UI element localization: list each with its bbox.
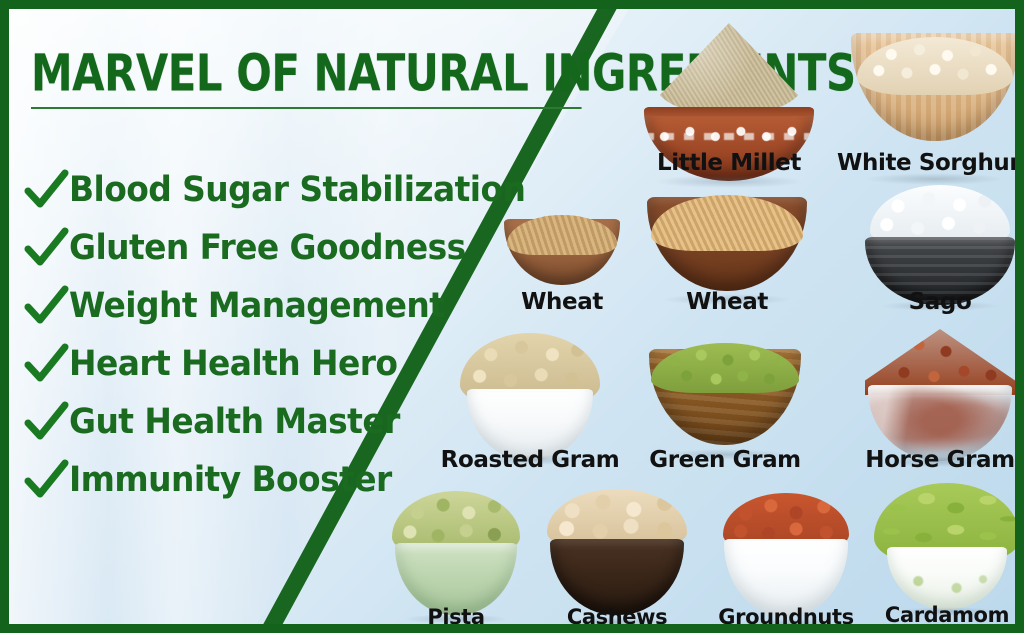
ingredient-card-wheat-left: Wheat	[487, 181, 637, 331]
ingredients-grid: Little Millet White Sorghum Wheat	[9, 9, 1015, 624]
ingredient-label: Pista	[427, 605, 484, 629]
ingredient-label: Green Gram	[649, 447, 801, 473]
ingredient-card-green-gram: Green Gram	[625, 327, 825, 487]
ingredient-label: Groundnuts	[718, 605, 853, 629]
ingredient-label: White Sorghum	[837, 150, 1024, 176]
ingredient-card-groundnuts: Groundnuts	[697, 487, 875, 632]
ingredient-card-white-sorghum: White Sorghum	[837, 15, 1024, 180]
ingredient-label: Little Millet	[657, 150, 801, 176]
ingredient-label: Wheat	[521, 289, 603, 315]
ingredient-label: Cashews	[567, 605, 667, 629]
ingredient-card-cashews: Cashews	[527, 487, 707, 632]
poster-canvas: MARVEL OF NATURAL INGREDIENTS Blood Suga…	[0, 0, 1024, 633]
ingredient-card-sago: Sago	[847, 181, 1024, 331]
ingredient-label: Wheat	[686, 289, 768, 315]
ingredient-card-horse-gram: Horse Gram	[847, 327, 1024, 487]
ingredient-card-wheat-center: Wheat	[627, 181, 827, 331]
ingredient-card-roasted-gram: Roasted Gram	[427, 327, 633, 487]
ingredient-label: Cardamom	[885, 603, 1009, 627]
ingredient-card-pista: Pista	[369, 487, 543, 632]
ingredient-card-little-millet: Little Millet	[629, 15, 829, 180]
ingredient-label: Roasted Gram	[441, 447, 620, 473]
ingredient-card-cardamom: Cardamom	[861, 481, 1024, 631]
ingredient-label: Horse Gram	[865, 447, 1014, 473]
ingredient-label: Sago	[909, 289, 972, 315]
